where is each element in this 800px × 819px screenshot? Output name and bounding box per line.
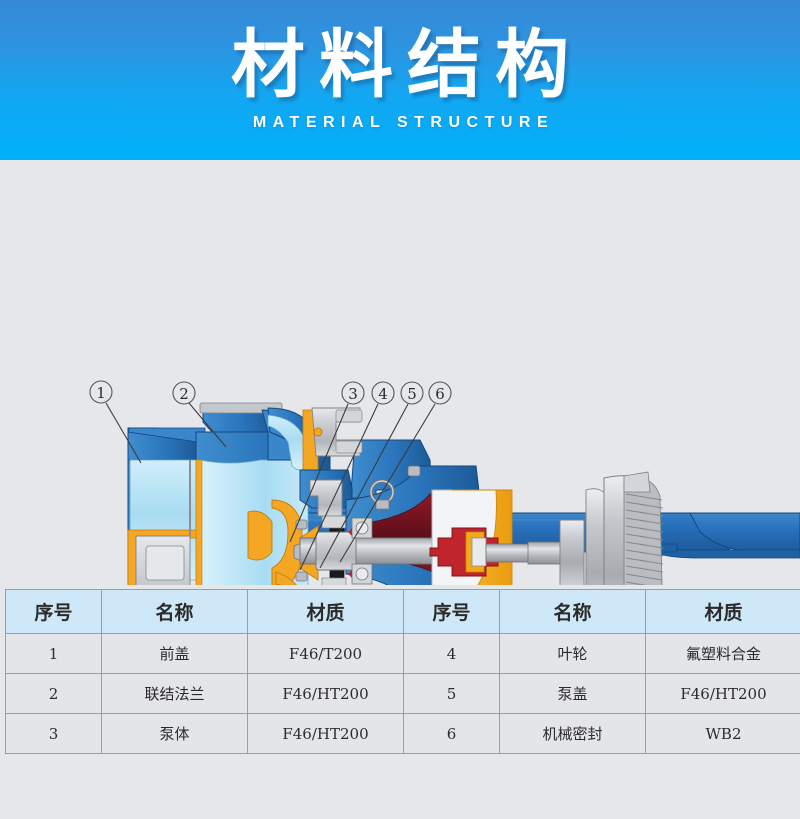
page-title: 材料结构: [231, 28, 583, 102]
page-subtitle: MATERIAL STRUCTURE: [253, 114, 554, 132]
column-header-mat-1: 材质: [248, 590, 404, 634]
column-header-name-2: 名称: [500, 590, 646, 634]
callout-number-2: 2: [179, 385, 189, 403]
cell-no: 6: [404, 714, 500, 754]
callout-number-4: 4: [378, 385, 388, 403]
column-header-no-1: 序号: [6, 590, 102, 634]
cell-mat: F46/HT200: [248, 674, 404, 714]
callout-number-5: 5: [407, 385, 417, 403]
cell-name: 泵盖: [500, 674, 646, 714]
cell-no: 1: [6, 634, 102, 674]
cell-name: 机械密封: [500, 714, 646, 754]
banner-content: 材料结构 MATERIAL STRUCTURE: [0, 0, 800, 160]
cell-no: 5: [404, 674, 500, 714]
column-header-name-1: 名称: [102, 590, 248, 634]
cell-name: 泵体: [102, 714, 248, 754]
cell-name: 前盖: [102, 634, 248, 674]
callout-number-6: 6: [435, 385, 445, 403]
callout-number-1: 1: [96, 384, 106, 402]
callout-number-3: 3: [348, 385, 358, 403]
cell-mat: F46/T200: [248, 634, 404, 674]
page-header-banner: 材料结构 MATERIAL STRUCTURE: [0, 0, 800, 160]
table-row: 3 泵体 F46/HT200 6 机械密封 WB2: [6, 714, 800, 754]
table-row: 2 联结法兰 F46/HT200 5 泵盖 F46/HT200: [6, 674, 800, 714]
cell-no: 3: [6, 714, 102, 754]
pump-cross-section-illustration: 1 2 3 4 5 6: [0, 160, 800, 585]
cell-name: 联结法兰: [102, 674, 248, 714]
motor-cooling-fins: [624, 472, 663, 585]
column-header-no-2: 序号: [404, 590, 500, 634]
table-row: 1 前盖 F46/T200 4 叶轮 氟塑料合金: [6, 634, 800, 674]
column-header-mat-2: 材质: [646, 590, 800, 634]
cell-no: 4: [404, 634, 500, 674]
cell-name: 叶轮: [500, 634, 646, 674]
material-spec-table: 序号 名称 材质 序号 名称 材质 1 前盖 F46/T200 4 叶轮 氟塑料…: [5, 589, 800, 754]
cell-no: 2: [6, 674, 102, 714]
cell-mat: WB2: [646, 714, 800, 754]
callout-markers: 1 2 3 4 5 6: [90, 381, 451, 404]
cell-mat: F46/HT200: [248, 714, 404, 754]
table-header-row: 序号 名称 材质 序号 名称 材质: [6, 590, 800, 634]
material-spec-table-wrapper: 序号 名称 材质 序号 名称 材质 1 前盖 F46/T200 4 叶轮 氟塑料…: [5, 589, 795, 754]
pump-diagram-area: 1 2 3 4 5 6: [0, 160, 800, 585]
cell-mat: 氟塑料合金: [646, 634, 800, 674]
cell-mat: F46/HT200: [646, 674, 800, 714]
